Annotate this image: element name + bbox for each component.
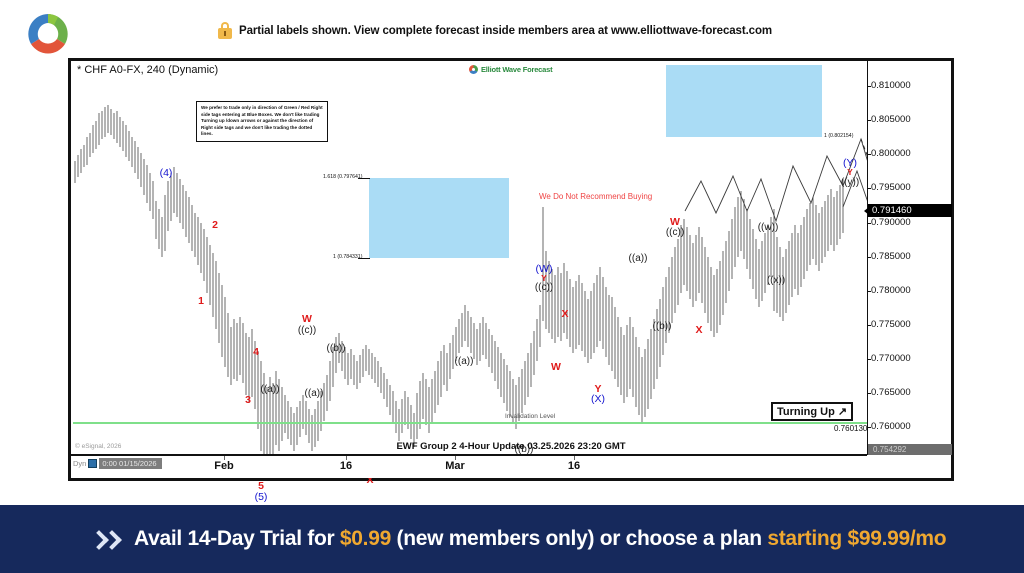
promo-price-trial: $0.99 [340, 527, 391, 550]
wave-label-5p: (5) [255, 491, 268, 503]
invalidation-price: 0.760130 [834, 424, 867, 433]
dyn-indicator[interactable]: Dyn 0:00 01/15/2026 [73, 458, 162, 469]
chart-footer-note: EWF Group 2 4-Hour Update 03.25.2026 23:… [396, 441, 625, 452]
wave-label-bb-2: ((b)) [327, 343, 346, 354]
wave-label-ww: ((w)) [758, 222, 779, 233]
lock-icon [218, 22, 232, 39]
promo-banner[interactable]: Avail 14-Day Trial for $0.99 (new member… [0, 505, 1024, 573]
notice-text: Partial labels shown. View complete fore… [239, 25, 772, 37]
double-chevron-right-icon [92, 528, 118, 550]
wave-label-2: 2 [212, 219, 218, 231]
promo-pre: Avail 14-Day Trial for [134, 527, 340, 550]
price-tick-3: 0.795000 [871, 182, 911, 193]
promo-text: Avail 14-Day Trial for $0.99 (new member… [134, 527, 946, 551]
time-label-16b: 16 [568, 460, 580, 472]
wave-label-3: 3 [245, 394, 251, 406]
wave-label-W-1: W [302, 313, 312, 325]
low-price-marker: 0.754292 [868, 444, 952, 455]
price-tick-5: 0.785000 [871, 251, 911, 262]
chart-panel[interactable]: * CHF A0-FX, 240 (Dynamic) Elliott Wave … [68, 58, 954, 481]
forecast-path-overlay [71, 61, 957, 455]
price-tick-0: 0.810000 [871, 80, 911, 91]
wave-label-Y-3: Y [847, 167, 853, 177]
partial-labels-notice: Partial labels shown. View complete fore… [218, 22, 772, 39]
wave-label-X-big: (X) [591, 393, 605, 405]
wave-label-X-2: X [561, 308, 568, 320]
wave-label-cc-3: ((c)) [535, 282, 553, 293]
price-axis[interactable]: 0.810000 0.805000 0.800000 0.795000 0.79… [867, 61, 951, 455]
time-axis[interactable]: Dyn 0:00 01/15/2026 Feb 16 Mar 16 [71, 455, 867, 478]
dyn-timestamp: 0:00 01/15/2026 [99, 458, 161, 469]
promo-banner-inner: Avail 14-Day Trial for $0.99 (new member… [92, 527, 946, 551]
wave-label-X-3: X [695, 324, 702, 336]
screenshot-root: Partial labels shown. View complete fore… [0, 0, 1024, 573]
wave-label-bb-4: ((b)) [653, 321, 672, 332]
wave-label-4: (4) [160, 167, 173, 179]
promo-mid: (new members only) or choose a plan [391, 527, 767, 550]
time-label-16a: 16 [340, 460, 352, 472]
price-tick-7: 0.775000 [871, 319, 911, 330]
price-tick-4: 0.790000 [871, 217, 911, 228]
wave-label-aa-4: ((a)) [629, 253, 648, 264]
price-tick-6: 0.780000 [871, 285, 911, 296]
price-tick-9: 0.765000 [871, 387, 911, 398]
invalidation-line [73, 422, 871, 424]
time-label-mar: Mar [445, 460, 465, 472]
dyn-label: Dyn [73, 459, 86, 468]
current-price-marker: 0.791460 [868, 204, 952, 217]
wave-label-xx: ((x)) [767, 275, 785, 286]
time-label-feb: Feb [214, 460, 234, 472]
wave-label-aa-3: ((a)) [455, 356, 474, 367]
invalidation-label: Invalidation Level [505, 413, 555, 420]
wave-label-W-2: W [551, 361, 561, 373]
elliott-wave-forecast-logo [18, 10, 78, 58]
wave-label-yy: ((y)) [841, 177, 859, 188]
price-tick-1: 0.805000 [871, 114, 911, 125]
esignal-copyright: © eSignal, 2026 [75, 443, 121, 450]
wave-label-4b: 4 [253, 346, 259, 358]
price-tick-2: 0.800000 [871, 148, 911, 159]
no-buy-warning: We Do Not Recommend Buying [539, 192, 652, 201]
wave-label-aa-2: ((a)) [305, 388, 324, 399]
wave-label-cc-4: ((c)) [666, 227, 684, 238]
price-tick-10: 0.760000 [871, 421, 911, 432]
page-header: Partial labels shown. View complete fore… [0, 0, 1024, 58]
wave-label-1: 1 [198, 295, 204, 307]
chart-inner: * CHF A0-FX, 240 (Dynamic) Elliott Wave … [71, 61, 951, 478]
wave-label-cc-1: ((c)) [298, 325, 316, 336]
dyn-icon[interactable] [88, 459, 97, 468]
price-tick-8: 0.770000 [871, 353, 911, 364]
wave-label-aa-1: ((a)) [261, 384, 280, 395]
promo-price-plan: starting $99.99/mo [767, 527, 946, 550]
turning-up-badge[interactable]: Turning Up ↗ [771, 402, 853, 421]
